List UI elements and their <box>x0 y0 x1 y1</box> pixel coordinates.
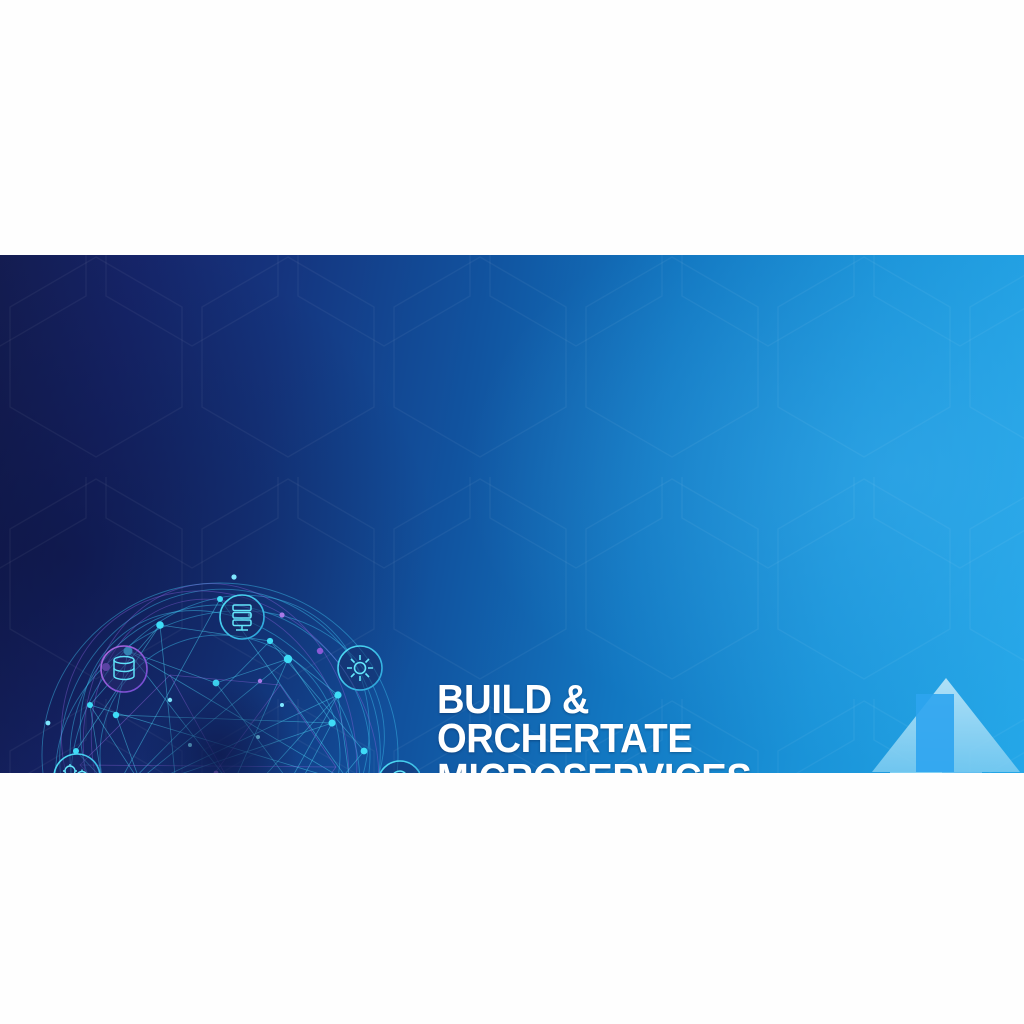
page-title: BUILD & ORCHERTATE MICROSERVICES <box>437 680 837 773</box>
badge-database-top <box>220 595 264 639</box>
banner-canvas: BUILD & ORCHERTATE MICROSERVICES A PRACT… <box>0 0 1024 1024</box>
badge-gear-upper-right <box>338 646 382 690</box>
badge-database-upper-left <box>101 646 147 692</box>
badge-cogs-left <box>54 754 100 773</box>
growth-arrow <box>868 670 1024 773</box>
badge-cloud-right <box>378 761 420 773</box>
network-graphic <box>20 555 420 773</box>
hero-banner: BUILD & ORCHERTATE MICROSERVICES A PRACT… <box>0 255 1024 773</box>
headline-line-2: MICROSERVICES <box>437 759 837 773</box>
headline-block: BUILD & ORCHERTATE MICROSERVICES A PRACT… <box>437 680 867 773</box>
headline-line-1: BUILD & ORCHERTATE <box>437 676 692 761</box>
network-core-fade <box>142 677 298 773</box>
